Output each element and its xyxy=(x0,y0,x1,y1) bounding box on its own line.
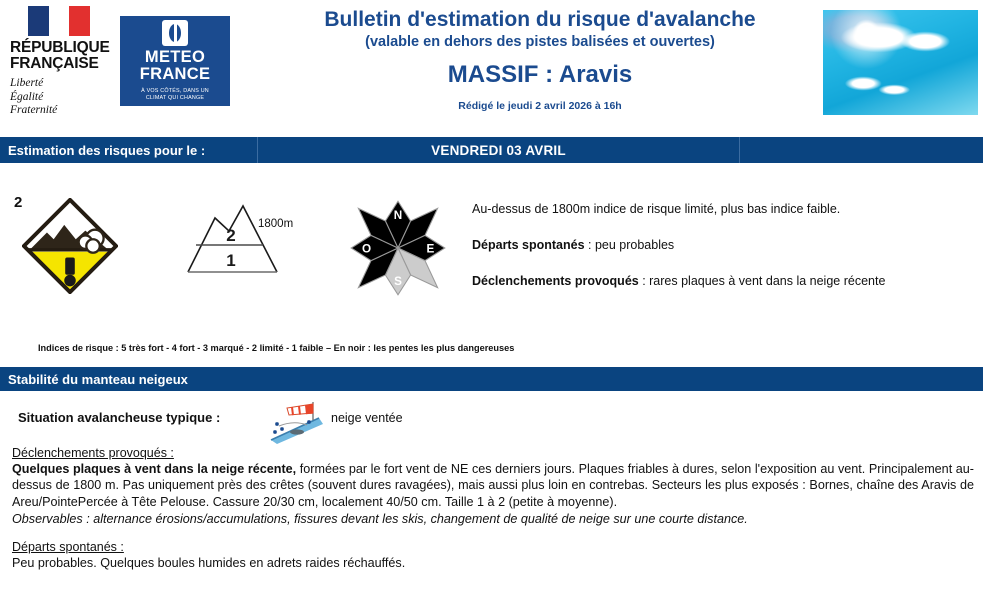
meteo-word: METEO xyxy=(140,49,211,66)
risk-summary-text: Au-dessus de 1800m indice de risque limi… xyxy=(472,202,972,216)
spontaneous-departures-paragraph: Peu probables. Quelques boules humides e… xyxy=(12,555,974,571)
typical-situation-label: Situation avalancheuse typique : xyxy=(18,410,220,425)
republique-motto: Liberté Égalité Fraternité xyxy=(10,77,128,118)
risk-bar-day-cell: VENDREDI 03 AVRIL xyxy=(257,137,740,163)
meteo-france-tagline: À VOS CÔTÉS, DANS UN CLIMAT QUI CHANGE xyxy=(141,88,209,103)
redaction-date: Rédigé le jeudi 2 avril 2026 à 16h xyxy=(250,100,830,112)
stability-body: Déclenchements provoqués : Quelques plaq… xyxy=(12,446,974,572)
meteo-france-mark-icon xyxy=(162,20,188,46)
republique-title: RÉPUBLIQUE FRANÇAISE xyxy=(10,40,128,72)
triggered-releases-label: Déclenchements provoqués xyxy=(472,274,639,288)
page-header: RÉPUBLIQUE FRANÇAISE Liberté Égalité Fra… xyxy=(0,0,983,133)
risk-summary-row: 2 2 1 1800m xyxy=(0,172,983,332)
typical-situation-row: Situation avalancheuse typique : neige v… xyxy=(0,400,983,446)
altitude-risk-diagram: 2 1 xyxy=(185,198,290,276)
avalanche-risk-diamond-icon xyxy=(22,198,118,294)
risk-description-block: Au-dessus de 1800m indice de risque limi… xyxy=(472,202,972,288)
compass-label-o: O xyxy=(362,243,371,256)
compass-label-s: S xyxy=(394,275,402,288)
spontaneous-departures-value: : peu probables xyxy=(585,238,675,252)
stability-section-header: Stabilité du manteau neigeux xyxy=(0,367,983,391)
page-title: Bulletin d'estimation du risque d'avalan… xyxy=(250,8,830,33)
triggered-releases-value: : rares plaques à vent dans la neige réc… xyxy=(639,274,886,288)
compass-rose-exposure: N E S O xyxy=(344,194,452,302)
triggered-releases-heading: Déclenchements provoqués : xyxy=(12,446,974,460)
sky-photo xyxy=(823,10,978,115)
spontaneous-departures-label: Départs spontanés xyxy=(472,238,585,252)
paragraph-spacer xyxy=(12,527,974,540)
altitude-high-level: 2 xyxy=(226,226,235,245)
motto-egalite: Égalité xyxy=(10,91,128,105)
triggered-releases-paragraph: Quelques plaques à vent dans la neige ré… xyxy=(12,461,974,510)
stability-section-title: Stabilité du manteau neigeux xyxy=(8,372,188,387)
triggered-releases-bold: Quelques plaques à vent dans la neige ré… xyxy=(12,462,296,476)
risk-estimation-bar: Estimation des risques pour le : VENDRED… xyxy=(0,137,983,163)
page-subtitle: (valable en dehors des pistes balisées e… xyxy=(250,33,830,53)
wind-blown-snow-icon xyxy=(267,400,325,444)
observables-text: Observables : alternance érosions/accumu… xyxy=(12,512,748,526)
header-titles: Bulletin d'estimation du risque d'avalan… xyxy=(250,8,830,112)
risk-bar-right-cell xyxy=(740,137,983,163)
republique-francaise-logo: RÉPUBLIQUE FRANÇAISE Liberté Égalité Fra… xyxy=(10,6,128,118)
altitude-threshold-label: 1800m xyxy=(258,218,293,230)
compass-label-n: N xyxy=(394,209,402,222)
meteo-france-name: METEO FRANCE xyxy=(140,49,211,83)
france-word: FRANCE xyxy=(140,66,211,83)
tagline-line-2: CLIMAT QUI CHANGE xyxy=(141,95,209,102)
tagline-line-1: À VOS CÔTÉS, DANS UN xyxy=(141,88,209,95)
massif-title: MASSIF : Aravis xyxy=(250,61,830,90)
triggered-releases-line: Déclenchements provoqués : rares plaques… xyxy=(472,274,972,288)
meteo-france-logo: METEO FRANCE À VOS CÔTÉS, DANS UN CLIMAT… xyxy=(120,16,230,106)
risk-bar-left-cell: Estimation des risques pour le : xyxy=(0,137,257,163)
altitude-low-level: 1 xyxy=(226,251,235,270)
observables-paragraph: Observables : alternance érosions/accumu… xyxy=(12,511,974,527)
avalanche-bulletin-page: RÉPUBLIQUE FRANÇAISE Liberté Égalité Fra… xyxy=(0,0,983,595)
spontaneous-departures-heading: Départs spontanés : xyxy=(12,540,974,554)
spontaneous-departures-line: Départs spontanés : peu probables xyxy=(472,238,972,252)
risk-bar-label: Estimation des risques pour le : xyxy=(8,143,205,158)
french-flag-icon xyxy=(28,6,90,36)
risk-index-legend: Indices de risque : 5 très fort - 4 fort… xyxy=(38,343,514,353)
risk-bar-day: VENDREDI 03 AVRIL xyxy=(431,143,566,158)
motto-liberte: Liberté xyxy=(10,77,128,91)
motto-fraternite: Fraternité xyxy=(10,104,128,118)
typical-situation-value: neige ventée xyxy=(331,411,403,425)
compass-label-e: E xyxy=(427,243,435,256)
